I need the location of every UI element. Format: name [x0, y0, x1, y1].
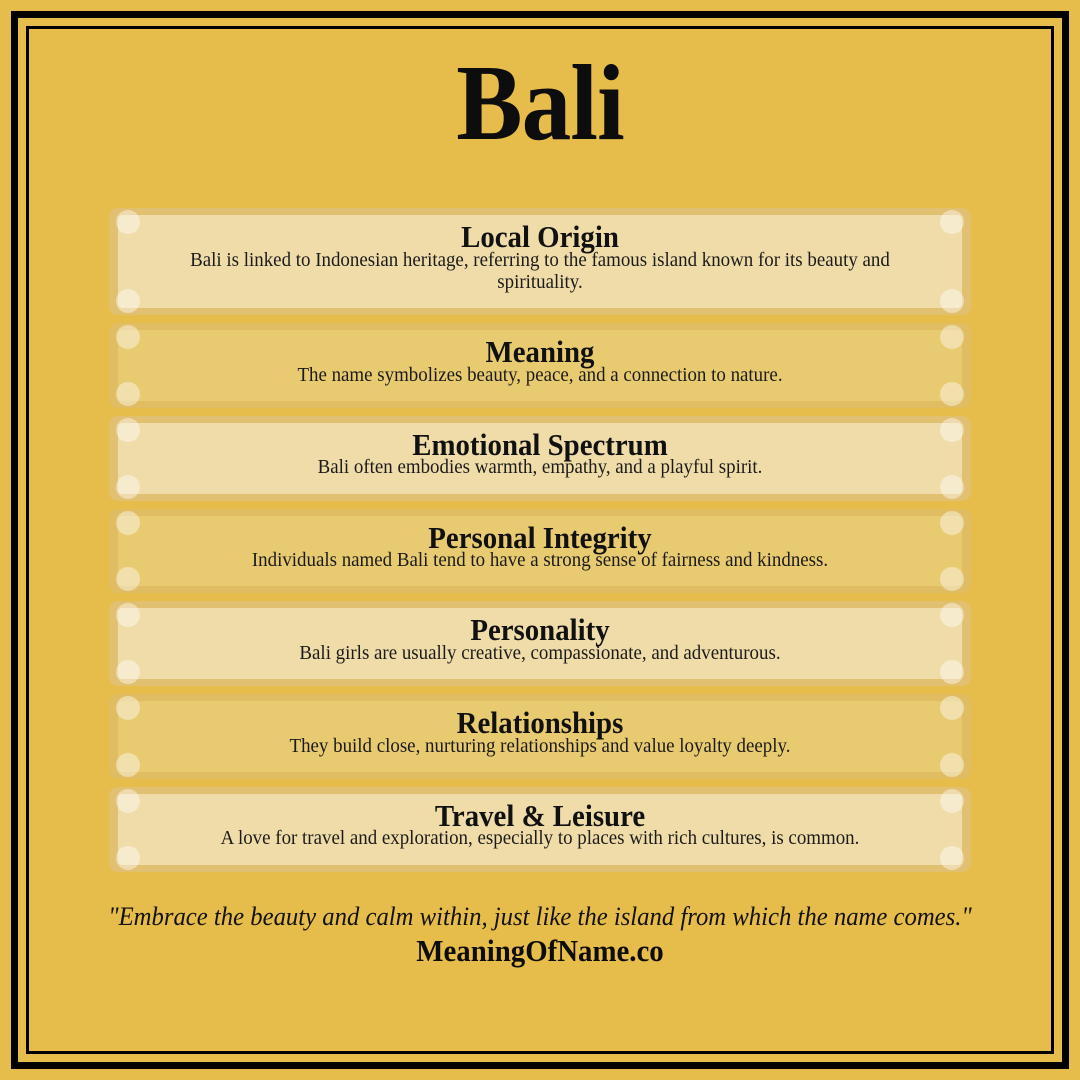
footer: "Embrace the beauty and calm within, jus… — [50, 902, 1030, 970]
corner-pin-icon — [116, 382, 140, 406]
info-card-inner: Personal Integrity Individuals named Bal… — [118, 516, 962, 587]
page-title: Bali — [456, 50, 623, 158]
corner-pin-icon — [940, 418, 964, 442]
corner-pin-icon — [940, 789, 964, 813]
info-card-inner: Local Origin Bali is linked to Indonesia… — [118, 215, 962, 308]
corner-pin-icon — [940, 567, 964, 591]
corner-pin-icon — [116, 475, 140, 499]
corner-pin-icon — [116, 846, 140, 870]
info-card: Relationships They build close, nurturin… — [109, 694, 971, 779]
corner-pin-icon — [116, 696, 140, 720]
corner-pin-icon — [940, 846, 964, 870]
info-card-body: The name symbolizes beauty, peace, and a… — [156, 365, 924, 387]
info-card-inner: Emotional Spectrum Bali often embodies w… — [118, 423, 962, 494]
info-card-inner: Meaning The name symbolizes beauty, peac… — [118, 330, 962, 401]
corner-pin-icon — [116, 660, 140, 684]
corner-pin-icon — [940, 382, 964, 406]
corner-pin-icon — [116, 603, 140, 627]
info-card-body: Bali is linked to Indonesian heritage, r… — [156, 250, 924, 294]
corner-pin-icon — [940, 603, 964, 627]
corner-pin-icon — [116, 289, 140, 313]
corner-pin-icon — [940, 753, 964, 777]
info-card: Local Origin Bali is linked to Indonesia… — [109, 208, 971, 315]
info-card-body: Bali often embodies warmth, empathy, and… — [156, 457, 924, 479]
info-card: Travel & Leisure A love for travel and e… — [109, 787, 971, 872]
info-card: Personality Bali girls are usually creat… — [109, 601, 971, 686]
footer-quote: "Embrace the beauty and calm within, jus… — [75, 902, 1006, 932]
content-column: Bali Local Origin Bali is linked to Indo… — [40, 34, 1040, 1046]
info-card: Personal Integrity Individuals named Bal… — [109, 509, 971, 594]
corner-pin-icon — [940, 289, 964, 313]
corner-pin-icon — [116, 753, 140, 777]
corner-pin-icon — [116, 567, 140, 591]
corner-pin-icon — [116, 210, 140, 234]
corner-pin-icon — [940, 511, 964, 535]
info-card-inner: Relationships They build close, nurturin… — [118, 701, 962, 772]
poster: Bali Local Origin Bali is linked to Indo… — [0, 0, 1080, 1080]
corner-pin-icon — [940, 325, 964, 349]
info-card-body: Bali girls are usually creative, compass… — [156, 643, 924, 665]
info-card-body: A love for travel and exploration, espec… — [156, 828, 924, 850]
corner-pin-icon — [116, 789, 140, 813]
info-card: Meaning The name symbolizes beauty, peac… — [109, 323, 971, 408]
corner-pin-icon — [940, 210, 964, 234]
corner-pin-icon — [940, 475, 964, 499]
brand-name: MeaningOfName.co — [84, 933, 995, 969]
corner-pin-icon — [940, 696, 964, 720]
corner-pin-icon — [116, 325, 140, 349]
corner-pin-icon — [116, 511, 140, 535]
info-card-inner: Travel & Leisure A love for travel and e… — [118, 794, 962, 865]
info-card: Emotional Spectrum Bali often embodies w… — [109, 416, 971, 501]
info-card-body: Individuals named Bali tend to have a st… — [156, 550, 924, 572]
corner-pin-icon — [116, 418, 140, 442]
info-card-inner: Personality Bali girls are usually creat… — [118, 608, 962, 679]
corner-pin-icon — [940, 660, 964, 684]
info-card-list: Local Origin Bali is linked to Indonesia… — [109, 208, 971, 872]
info-card-body: They build close, nurturing relationship… — [156, 736, 924, 758]
